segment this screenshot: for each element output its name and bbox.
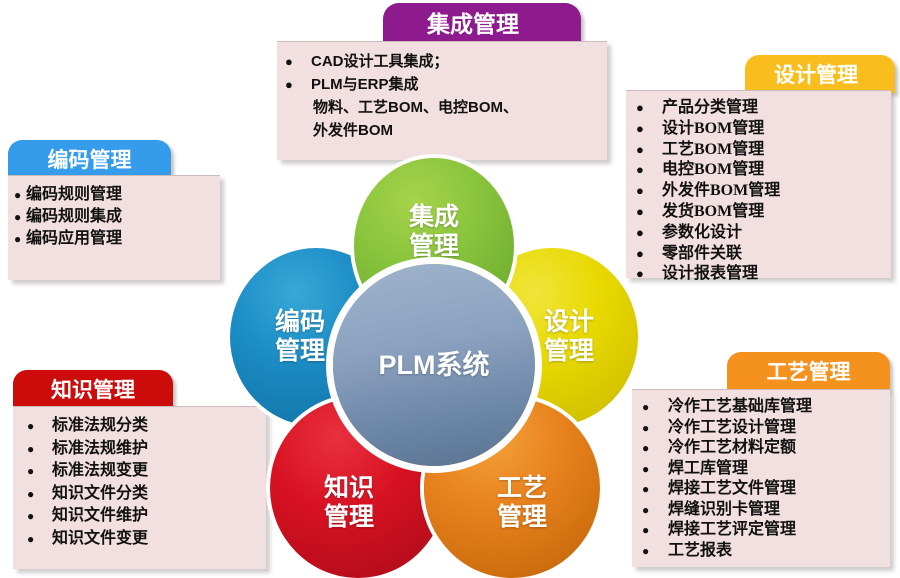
bullet-icon: ● <box>14 185 26 206</box>
petal-diagram: 编码 管理 设计 管理 知识 管理 工艺 管理 集成 管 <box>228 158 640 570</box>
bullet-icon: ● <box>14 207 26 228</box>
petal-center-plm-system[interactable]: PLM系统 <box>333 264 535 466</box>
bullet-icon: ● <box>285 50 311 73</box>
panel-header-design-management: 设计管理 <box>745 55 895 93</box>
list-item[interactable]: ●编码规则管理 <box>14 184 220 206</box>
list-item[interactable]: ●编码应用管理 <box>14 228 220 250</box>
list-item-label: PLM与ERP集成 <box>311 76 419 93</box>
bullet-icon: ● <box>14 229 26 250</box>
bullet-icon: ● <box>642 520 668 541</box>
list-item[interactable]: ●焊缝识别卡管理 <box>642 500 890 521</box>
list-item[interactable]: ●焊接工艺评定管理 <box>642 520 890 541</box>
plm-system-diagram: 集成管理 ●CAD设计工具集成； ●PLM与ERP集成 物料、工艺BOM、电控B… <box>0 0 900 578</box>
list-item-label: 编码规则集成 <box>26 208 122 225</box>
list-item-label: 设计报表管理 <box>662 265 758 282</box>
list-item[interactable]: ●工艺报表 <box>642 541 890 562</box>
list-item-label: 知识文件变更 <box>52 530 148 547</box>
petal-label-knowledge: 知识 管理 <box>324 444 392 532</box>
list-item-label: 标准法规变更 <box>52 462 148 479</box>
panel-header-process-management: 工艺管理 <box>727 352 890 391</box>
list-item[interactable]: ●CAD设计工具集成； <box>285 50 607 73</box>
petal-label-process: 工艺 管理 <box>477 444 547 532</box>
bullet-icon: ● <box>636 98 662 119</box>
petal-label-line: 知识 <box>324 474 374 503</box>
petal-label-line: 管理 <box>275 337 325 366</box>
bullet-icon: ● <box>27 529 52 551</box>
list-item-label: 参数化设计 <box>662 224 742 241</box>
bullet-icon: ● <box>27 506 52 528</box>
list-item[interactable]: ●产品分类管理 <box>636 98 891 119</box>
panel-body-integration-management: ●CAD设计工具集成； ●PLM与ERP集成 物料、工艺BOM、电控BOM、 外… <box>277 41 607 160</box>
list-item-label: 标准法规分类 <box>52 417 148 434</box>
bullet-icon: ● <box>27 416 52 438</box>
panel-body-coding-management: ●编码规则管理 ●编码规则集成 ●编码应用管理 <box>8 175 220 280</box>
bullet-icon: ● <box>642 479 668 500</box>
list-item[interactable]: ●参数化设计 <box>636 223 891 244</box>
list-item-label: 焊接工艺评定管理 <box>668 521 796 538</box>
list-item[interactable]: ●PLM与ERP集成 <box>285 73 607 96</box>
process-item-list: ●冷作工艺基础库管理 ●冷作工艺设计管理 ●冷作工艺材料定额 ●焊工库管理 ●焊… <box>632 390 890 561</box>
list-item[interactable]: ●冷作工艺基础库管理 <box>642 397 890 418</box>
petal-label-line: 集成 <box>409 203 459 232</box>
bullet-icon: ● <box>642 459 668 480</box>
panel-body-design-management: ●产品分类管理 ●设计BOM管理 ●工艺BOM管理 ●电控BOM管理 ●外发件B… <box>626 90 891 278</box>
list-item-label: CAD设计工具集成； <box>311 53 449 70</box>
list-item-label: 零部件关联 <box>662 245 742 262</box>
coding-item-list: ●编码规则管理 ●编码规则集成 ●编码应用管理 <box>8 176 220 250</box>
list-item[interactable]: ●焊工库管理 <box>642 459 890 480</box>
list-item-label: 标准法规维护 <box>52 440 148 457</box>
list-item-label: 电控BOM管理 <box>662 161 764 178</box>
list-item-label: 焊工库管理 <box>668 460 748 477</box>
petal-label-line: 管理 <box>324 503 374 532</box>
bullet-icon: ● <box>642 438 668 459</box>
list-item[interactable]: ●冷作工艺设计管理 <box>642 418 890 439</box>
integration-sub-line: 外发件BOM <box>277 119 607 142</box>
list-item[interactable]: ●冷作工艺材料定额 <box>642 438 890 459</box>
list-item[interactable]: ●编码规则集成 <box>14 206 220 228</box>
list-item[interactable]: ●设计BOM管理 <box>636 119 891 140</box>
list-item[interactable]: ●外发件BOM管理 <box>636 181 891 202</box>
list-item-label: 焊缝识别卡管理 <box>668 501 780 518</box>
petal-label-line: 管理 <box>544 337 594 366</box>
petal-label-line: 管理 <box>409 232 459 261</box>
list-item-label: 编码应用管理 <box>26 230 122 247</box>
panel-header-knowledge-management: 知识管理 <box>13 370 173 408</box>
list-item-label: 发货BOM管理 <box>662 203 764 220</box>
bullet-icon: ● <box>642 397 668 418</box>
panel-header-coding-management: 编码管理 <box>8 140 171 178</box>
list-item[interactable]: ●焊接工艺文件管理 <box>642 479 890 500</box>
list-item-label: 工艺报表 <box>668 542 732 559</box>
list-item-label: 产品分类管理 <box>662 99 758 116</box>
list-item[interactable]: ●发货BOM管理 <box>636 202 891 223</box>
design-item-list: ●产品分类管理 ●设计BOM管理 ●工艺BOM管理 ●电控BOM管理 ●外发件B… <box>626 91 891 285</box>
bullet-icon: ● <box>27 484 52 506</box>
list-item-label: 知识文件分类 <box>52 485 148 502</box>
petal-label-line: 管理 <box>497 503 547 532</box>
list-item-label: 设计BOM管理 <box>662 120 764 137</box>
list-item-label: 焊接工艺文件管理 <box>668 480 796 497</box>
bullet-icon: ● <box>27 439 52 461</box>
petal-label-line: 设计 <box>544 308 594 337</box>
integration-item-list: ●CAD设计工具集成； ●PLM与ERP集成 <box>277 42 607 96</box>
center-label: PLM系统 <box>379 351 490 380</box>
list-item[interactable]: ●设计报表管理 <box>636 264 891 285</box>
bullet-icon: ● <box>27 461 52 483</box>
bullet-icon: ● <box>636 119 662 140</box>
petal-label-line: 工艺 <box>497 474 547 503</box>
list-item-label: 冷作工艺基础库管理 <box>668 398 812 415</box>
list-item-label: 冷作工艺材料定额 <box>668 439 796 456</box>
bullet-icon: ● <box>642 541 668 562</box>
bullet-icon: ● <box>642 500 668 521</box>
bullet-icon: ● <box>642 418 668 439</box>
list-item-label: 工艺BOM管理 <box>662 141 764 158</box>
list-item[interactable]: ●电控BOM管理 <box>636 160 891 181</box>
list-item-label: 冷作工艺设计管理 <box>668 419 796 436</box>
list-item-label: 知识文件维护 <box>52 507 148 524</box>
list-item[interactable]: ●零部件关联 <box>636 244 891 265</box>
panel-body-process-management: ●冷作工艺基础库管理 ●冷作工艺设计管理 ●冷作工艺材料定额 ●焊工库管理 ●焊… <box>632 389 890 567</box>
integration-sub-line: 物料、工艺BOM、电控BOM、 <box>277 96 607 119</box>
list-item[interactable]: ●工艺BOM管理 <box>636 140 891 161</box>
list-item-label: 编码规则管理 <box>26 186 122 203</box>
petal-label-line: 编码 <box>275 308 325 337</box>
list-item-label: 外发件BOM管理 <box>662 182 780 199</box>
panel-header-integration-management: 集成管理 <box>383 3 581 44</box>
bullet-icon: ● <box>285 73 311 96</box>
